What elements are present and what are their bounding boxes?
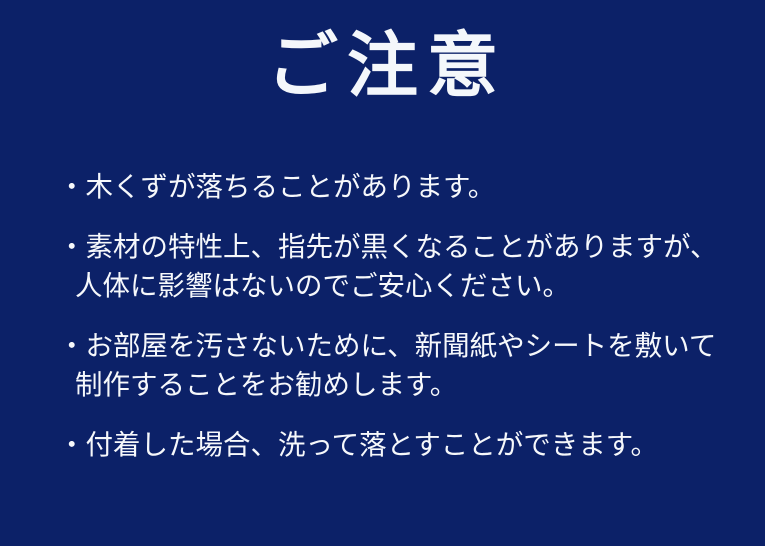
notice-line: ・木くずが落ちることがあります。 (58, 168, 738, 207)
list-item: ・木くずが落ちることがあります。 (58, 168, 738, 207)
list-item: ・付着した場合、洗って落とすことができます。 (58, 426, 738, 465)
list-item: ・お部屋を汚さないために、新聞紙やシートを敷いて 制作することをお勧めします。 (58, 327, 738, 405)
notice-list: ・木くずが落ちることがあります。 ・素材の特性上、指先が黒くなることがありますが… (58, 168, 738, 465)
page-title: ご注意 (0, 28, 765, 105)
notice-line: 制作することをお勧めします。 (58, 366, 738, 405)
notice-line: ・素材の特性上、指先が黒くなることがありますが、 (58, 228, 738, 267)
notice-line: ・お部屋を汚さないために、新聞紙やシートを敷いて (58, 327, 738, 366)
list-item: ・素材の特性上、指先が黒くなることがありますが、 人体に影響はないのでご安心くだ… (58, 228, 738, 306)
notice-line: ・付着した場合、洗って落とすことができます。 (58, 426, 738, 465)
notice-panel: ご注意 ・木くずが落ちることがあります。 ・素材の特性上、指先が黒くなることがあ… (0, 0, 765, 546)
notice-line: 人体に影響はないのでご安心ください。 (58, 267, 738, 306)
